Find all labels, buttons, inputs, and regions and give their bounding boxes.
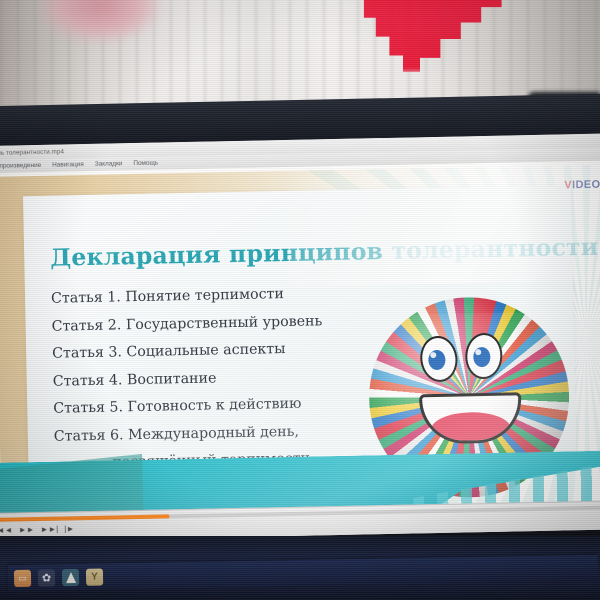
video-canvas[interactable]: Декларация принципов толерантности Стать… <box>0 160 600 512</box>
menu-item-help[interactable]: Помощь <box>133 160 158 167</box>
watermark-text: IDEOU <box>572 179 600 192</box>
yandex-icon[interactable]: Y <box>86 568 103 585</box>
play-button[interactable]: ►► <box>18 525 34 534</box>
menu-item-bookmarks[interactable]: Закладки <box>95 160 123 168</box>
pink-decoration <box>40 0 160 42</box>
menu-item-playback[interactable]: Воспроизведение <box>0 162 41 170</box>
transport-controls: ◄◄ ►► ►►| |► <box>0 524 74 535</box>
explorer-icon[interactable]: ▭ <box>14 569 31 586</box>
seek-progress <box>0 514 170 521</box>
vlc-icon[interactable] <box>62 568 79 585</box>
frame-step-button[interactable]: |► <box>64 524 74 533</box>
slide-title: Декларация принципов толерантности <box>50 234 560 272</box>
gear-icon[interactable]: ✿ <box>38 569 55 586</box>
slide-title-main: Декларация принципов <box>50 237 383 272</box>
vlc-cone-icon <box>65 571 75 582</box>
next-button[interactable]: ►►| <box>40 525 58 534</box>
previous-button[interactable]: ◄◄ <box>0 526 13 535</box>
tongue-icon <box>430 412 511 445</box>
photo-scene: день толерантности.mp4 Воспроизведение Н… <box>0 0 600 600</box>
slide-title-faded: толерантности <box>383 233 599 265</box>
smile-mouth-icon <box>419 392 522 444</box>
menu-item-navigation[interactable]: Навигация <box>52 161 84 169</box>
laptop-screen: день толерантности.mp4 Воспроизведение Н… <box>0 133 600 541</box>
videour-watermark: VIDEOU <box>564 179 600 192</box>
window-title: день толерантности.mp4 <box>0 148 64 157</box>
